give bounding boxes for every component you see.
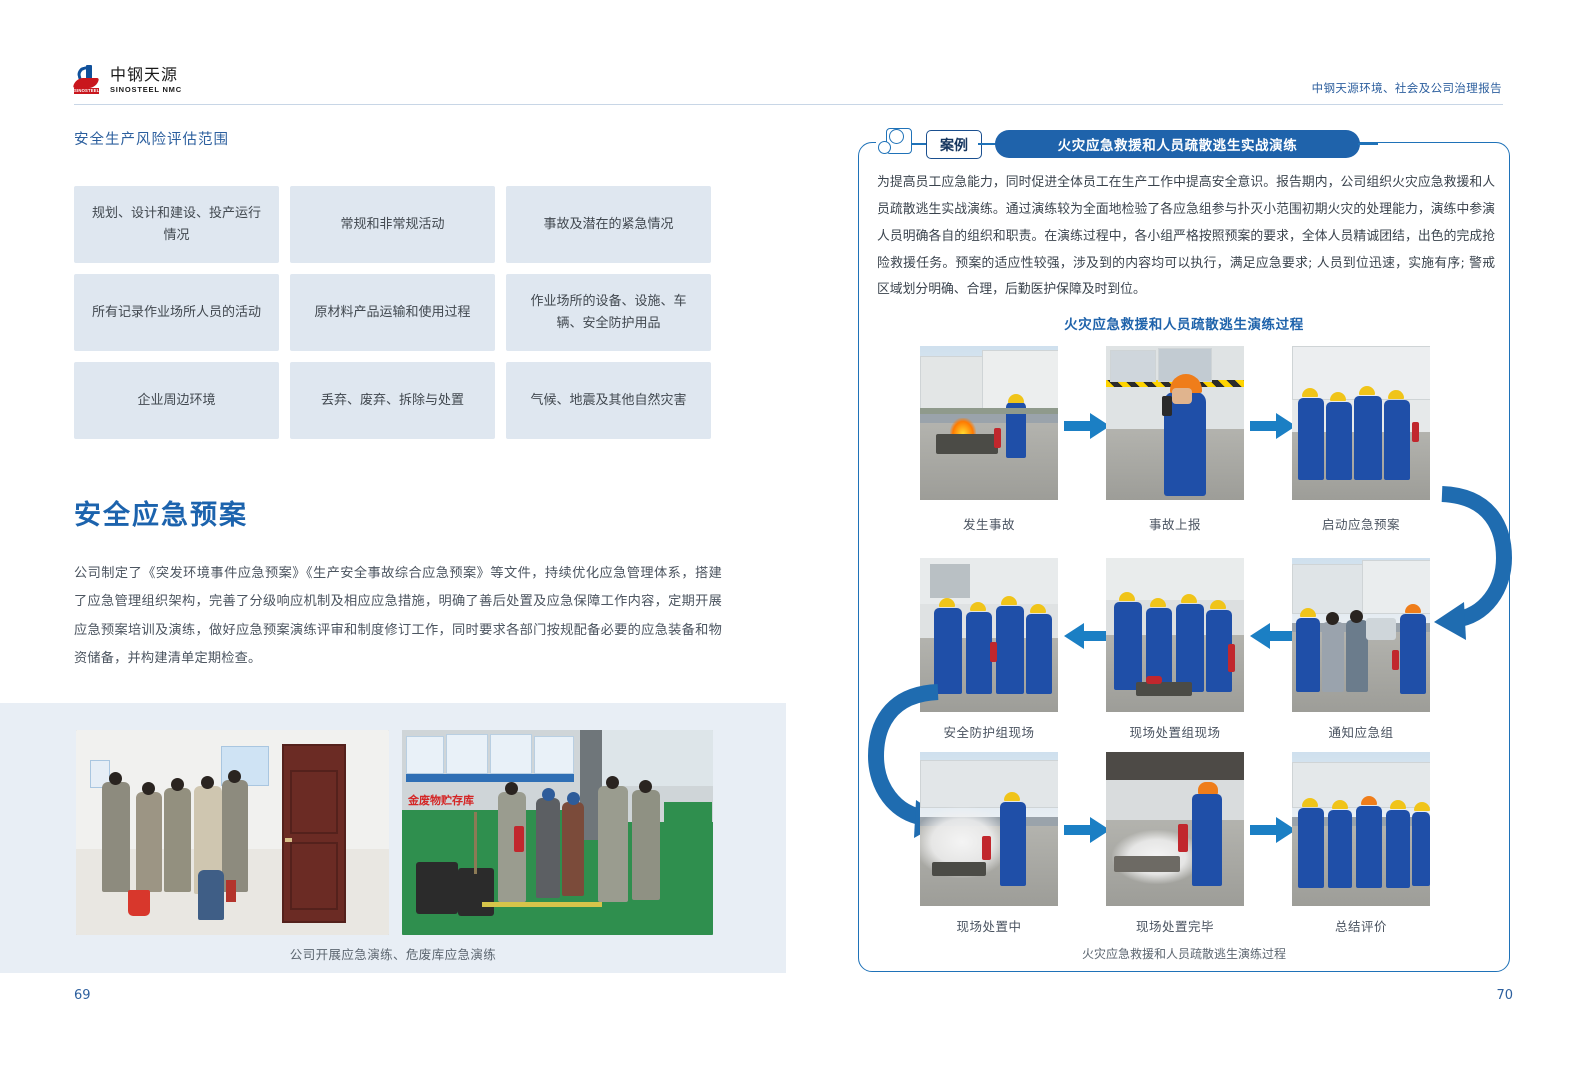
header-divider: [74, 104, 1503, 105]
logo-mark-text: SINOSTEEL: [74, 88, 99, 94]
grid-cell: 常规和非常规活动: [290, 186, 495, 263]
arrow-right-icon-3: [1064, 816, 1110, 844]
flow-label-1: 发生事故: [920, 514, 1058, 533]
flow-photo-5: [1106, 558, 1244, 712]
grid-cell: 所有记录作业场所人员的活动: [74, 274, 279, 351]
curved-arrow-down-left-icon: [1424, 470, 1514, 645]
photo-caption: 公司开展应急演练、危废库应急演练: [0, 944, 786, 963]
drill-photo-waste-store: 金废物贮存库: [402, 730, 713, 935]
page-number-right: 70: [1496, 988, 1513, 1003]
flow-label-4: 通知应急组: [1292, 722, 1430, 741]
company-logo: SINOSTEEL 中钢天源 SINOSTEEL NMC: [74, 64, 182, 96]
flow-photo-1: [920, 346, 1058, 500]
flow-photo-8: [1106, 752, 1244, 906]
report-spread: SINOSTEEL 中钢天源 SINOSTEEL NMC 中钢天源环境、社会及公…: [0, 0, 1587, 1077]
grid-cell: 规划、设计和建设、投产运行情况: [74, 186, 279, 263]
logo-english-name: SINOSTEEL NMC: [110, 86, 182, 94]
flow-photo-7: [920, 752, 1058, 906]
flow-label-3: 启动应急预案: [1292, 514, 1430, 533]
grid-cell: 原材料产品运输和使用过程: [290, 274, 495, 351]
case-connector-line: [978, 143, 996, 145]
flow-label-5: 现场处置组现场: [1106, 722, 1244, 741]
section-heading: 安全应急预案: [74, 493, 248, 532]
arrow-right-icon-4: [1250, 816, 1296, 844]
arrow-left-icon-2: [1250, 622, 1296, 650]
case-badge: 案例: [926, 130, 982, 159]
sinosteel-logo-icon: SINOSTEEL: [74, 64, 104, 96]
flow-photo-3: [1292, 346, 1430, 500]
grid-cell: 企业周边环境: [74, 362, 279, 439]
flow-label-8: 现场处置完毕: [1106, 916, 1244, 935]
arrow-left-icon-1: [1064, 622, 1110, 650]
section-paragraph: 公司制定了《突发环境事件应急预案》《生产安全事故综合应急预案》等文件，持续优化应…: [74, 560, 722, 674]
risk-scope-grid: 规划、设计和建设、投产运行情况 常规和非常规活动 事故及潜在的紧急情况 所有记录…: [74, 186, 711, 439]
drill-photo-indoor: [76, 730, 389, 935]
case-marker-icon: [878, 128, 912, 158]
grid-cell: 事故及潜在的紧急情况: [506, 186, 711, 263]
case-title: 火灾应急救援和人员疏散逃生实战演练: [995, 130, 1360, 158]
flow-photo-9: [1292, 752, 1430, 906]
flow-caption: 火灾应急救援和人员疏散逃生演练过程: [858, 945, 1510, 962]
running-header-title: 中钢天源环境、社会及公司治理报告: [1312, 80, 1502, 96]
arrow-right-icon-1: [1064, 412, 1110, 440]
flow-label-9: 总结评价: [1292, 916, 1430, 935]
flow-label-2: 事故上报: [1106, 514, 1244, 533]
case-connector-line: [1358, 143, 1378, 145]
arrow-right-icon-2: [1250, 412, 1296, 440]
logo-chinese-name: 中钢天源: [110, 67, 182, 83]
grid-cell: 作业场所的设备、设施、车辆、安全防护用品: [506, 274, 711, 351]
case-paragraph: 为提高员工应急能力，同时促进全体员工在生产工作中提高安全意识。报告期内，公司组织…: [877, 170, 1495, 304]
flow-title: 火灾应急救援和人员疏散逃生演练过程: [858, 313, 1510, 333]
grid-cell: 丢弃、废弃、拆除与处置: [290, 362, 495, 439]
flow-photo-4: [1292, 558, 1430, 712]
flow-label-7: 现场处置中: [920, 916, 1058, 935]
flow-photo-2: [1106, 346, 1244, 500]
page-title: 安全生产风险评估范围: [74, 128, 229, 149]
page-number-left: 69: [74, 988, 91, 1003]
grid-cell: 气候、地震及其他自然灾害: [506, 362, 711, 439]
